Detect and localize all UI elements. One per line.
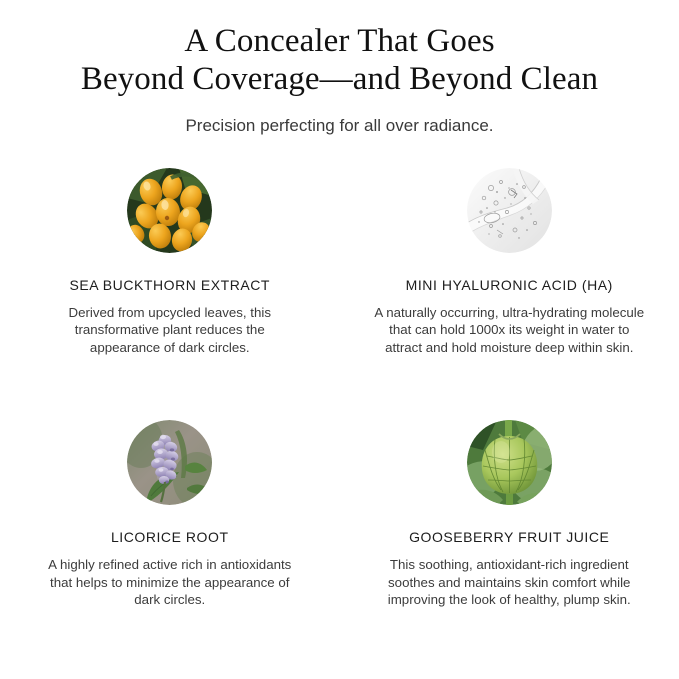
gooseberry-fruit-image (467, 420, 552, 505)
sea-buckthorn-image (127, 168, 212, 253)
ingredient-description: A naturally occurring, ultra-hydrating m… (372, 294, 648, 356)
thumbnail-wrap (32, 168, 308, 263)
ingredient-card-gooseberry: GOOSEBERRY FRUIT JUICE This soothing, an… (340, 356, 679, 608)
page-title-line-2: Beyond Coverage—and Beyond Clean (28, 60, 651, 98)
ingredient-description: A highly refined active rich in antioxid… (32, 546, 308, 608)
ingredient-highlights-page: A Concealer That Goes Beyond Coverage—an… (0, 0, 679, 679)
thumbnail-wrap (372, 168, 648, 263)
hyaluronic-acid-image (467, 168, 552, 253)
page-subtitle: Precision perfecting for all over radian… (0, 98, 679, 137)
ingredient-card-licorice-root: LICORICE ROOT A highly refined active ri… (0, 356, 340, 608)
page-title: A Concealer That Goes Beyond Coverage—an… (0, 22, 679, 98)
page-header: A Concealer That Goes Beyond Coverage—an… (0, 0, 679, 137)
ingredients-grid: SEA BUCKTHORN EXTRACT Derived from upcyc… (0, 168, 679, 608)
thumbnail-wrap (32, 420, 308, 515)
page-title-line-1: A Concealer That Goes (28, 22, 651, 60)
ingredient-title: SEA BUCKTHORN EXTRACT (32, 263, 308, 294)
ingredient-card-hyaluronic-acid: MINI HYALURONIC ACID (HA) A naturally oc… (340, 168, 679, 356)
ingredient-description: Derived from upcycled leaves, this trans… (32, 294, 308, 356)
licorice-root-image (127, 420, 212, 505)
ingredient-title: LICORICE ROOT (32, 515, 308, 546)
ingredient-description: This soothing, antioxidant-rich ingredie… (372, 546, 648, 608)
thumbnail-wrap (372, 420, 648, 515)
ingredient-card-sea-buckthorn: SEA BUCKTHORN EXTRACT Derived from upcyc… (0, 168, 340, 356)
ingredient-title: MINI HYALURONIC ACID (HA) (372, 263, 648, 294)
ingredient-title: GOOSEBERRY FRUIT JUICE (372, 515, 648, 546)
